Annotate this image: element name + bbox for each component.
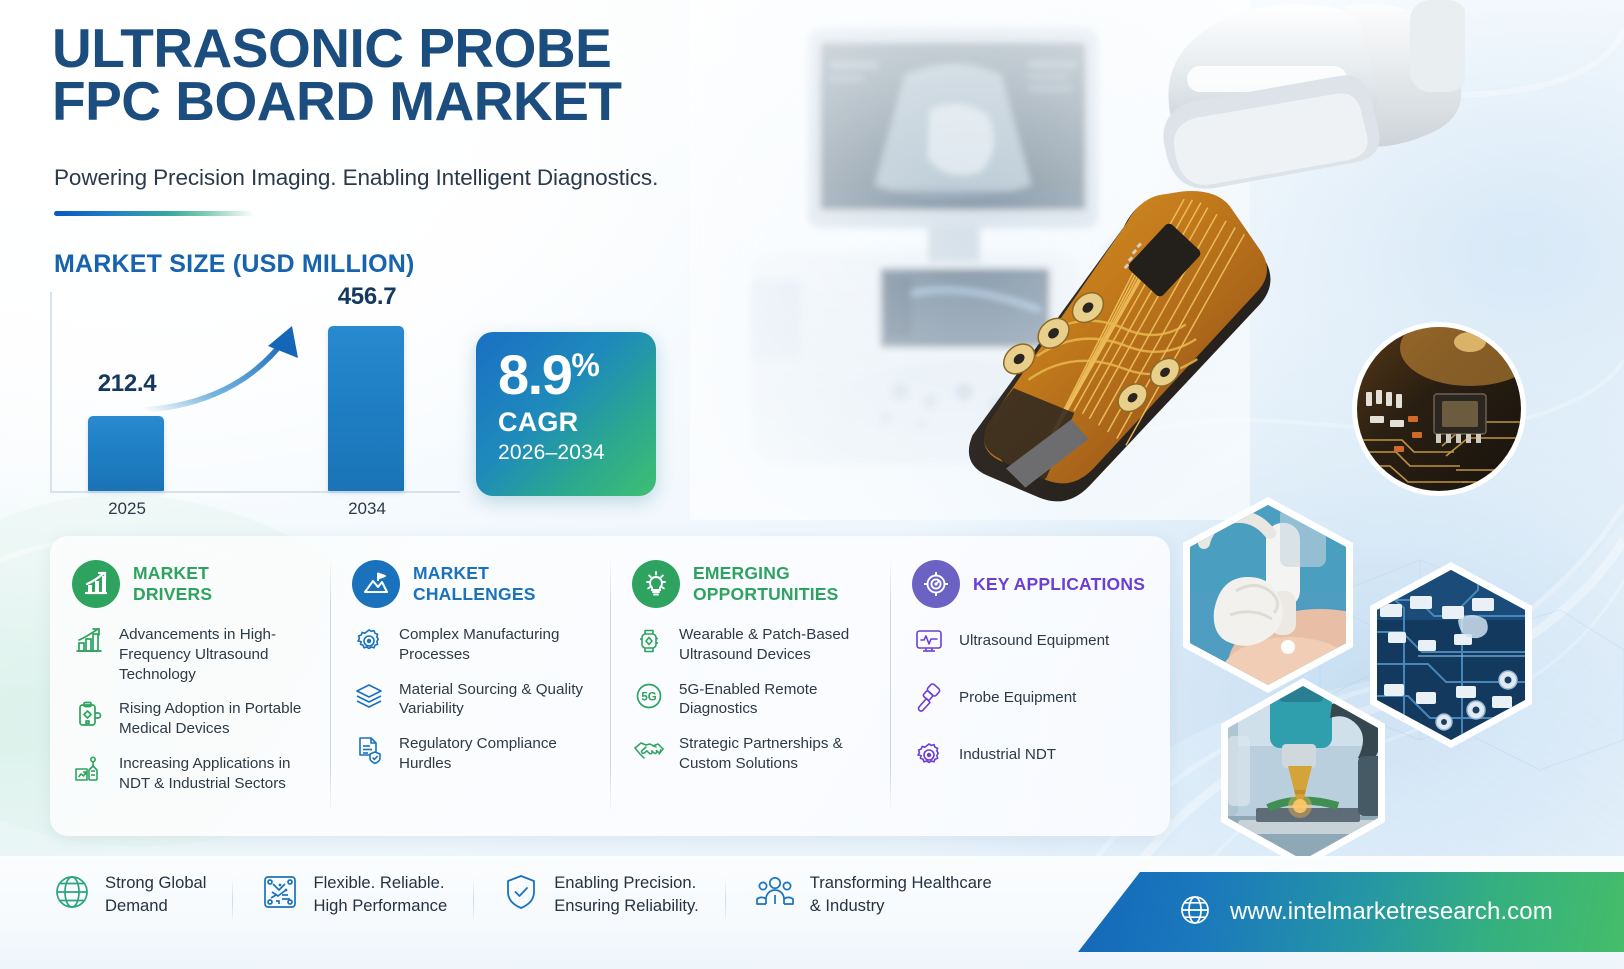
mountain-flag-icon bbox=[352, 560, 400, 608]
list-item: Increasing Applications in NDT & Industr… bbox=[72, 754, 316, 794]
list-item: Ultrasound Equipment bbox=[912, 625, 1156, 656]
bar-2034 bbox=[328, 326, 404, 491]
list-item-label: Regulatory Compliance Hurdles bbox=[399, 734, 596, 774]
growth-chart-icon bbox=[72, 560, 120, 608]
footer-line-1: Strong Global bbox=[105, 872, 206, 894]
footer-line-1: Flexible. Reliable. bbox=[313, 872, 447, 894]
accent-divider bbox=[54, 211, 254, 216]
footer-highlights: Strong Global Demand Flexible. Reliable bbox=[52, 872, 1018, 917]
footer-item-label: Strong Global Demand bbox=[105, 872, 206, 917]
shield-check-icon bbox=[501, 872, 541, 917]
footer-line-2: Demand bbox=[105, 895, 206, 917]
gear-icon bbox=[352, 625, 386, 656]
infographic-canvas: ULTRASONIC PROBE FPC BOARD MARKET Poweri… bbox=[0, 0, 1624, 969]
column-key-applications: KEY APPLICATIONS Ultrasound Equipment bbox=[890, 536, 1170, 836]
column-header: KEY APPLICATIONS bbox=[912, 560, 1156, 608]
heading-line-1: MARKET bbox=[413, 563, 536, 584]
list-item: Strategic Partnerships & Custom Solution… bbox=[632, 734, 876, 774]
list-item: Probe Equipment bbox=[912, 682, 1156, 713]
footer-item-label: Flexible. Reliable. High Performance bbox=[313, 872, 447, 917]
footer-line-1: Transforming Healthcare bbox=[810, 872, 992, 894]
fpc-flex-circuit-photo bbox=[908, 169, 1371, 541]
column-items: Advancements in High-Frequency Ultrasoun… bbox=[72, 625, 316, 793]
growth-chart-icon bbox=[72, 625, 106, 656]
column-header: MARKET CHALLENGES bbox=[352, 560, 596, 608]
bar-label-2025: 2025 bbox=[82, 499, 172, 519]
bar-value-2034: 456.7 bbox=[322, 283, 412, 311]
monitor-pulse-icon bbox=[912, 625, 946, 656]
footer-item-transforming-healthcare: Transforming Healthcare & Industry bbox=[725, 872, 1018, 917]
5g-icon: 5G bbox=[632, 680, 666, 711]
column-items: Ultrasound Equipment Probe Equipment bbox=[912, 625, 1156, 770]
list-item-label: Increasing Applications in NDT & Industr… bbox=[119, 754, 316, 794]
list-item: Complex Manufacturing Processes bbox=[352, 625, 596, 665]
globe-icon bbox=[52, 872, 92, 917]
handshake-icon bbox=[632, 734, 666, 765]
list-item-label: Advancements in High-Frequency Ultrasoun… bbox=[119, 625, 316, 684]
bar-value-2025: 212.4 bbox=[82, 370, 172, 398]
footer-item-flexible-reliable: Flexible. Reliable. High Performance bbox=[232, 872, 473, 917]
bar-label-2034: 2034 bbox=[322, 499, 412, 519]
column-heading-text: EMERGING OPPORTUNITIES bbox=[693, 563, 839, 604]
ultrasound-scan-patient-photo bbox=[1170, 495, 1366, 695]
column-market-drivers: MARKET DRIVERS Advancements in High-Freq… bbox=[50, 536, 330, 836]
heading-line-1: EMERGING bbox=[693, 563, 839, 584]
heading-line-1: KEY APPLICATIONS bbox=[973, 574, 1145, 595]
footer-line-1: Enabling Precision. bbox=[554, 872, 699, 894]
footer-item-label: Enabling Precision. Ensuring Reliability… bbox=[554, 872, 699, 917]
column-heading-text: MARKET CHALLENGES bbox=[413, 563, 536, 604]
website-url: www.intelmarketresearch.com bbox=[1230, 898, 1553, 926]
list-item-label: Rising Adoption in Portable Medical Devi… bbox=[119, 699, 316, 739]
page-title: ULTRASONIC PROBE FPC BOARD MARKET bbox=[52, 22, 772, 129]
footer-line-2: & Industry bbox=[810, 895, 992, 917]
list-item-label: Material Sourcing & Quality Variability bbox=[399, 680, 596, 720]
list-item-label: Complex Manufacturing Processes bbox=[399, 625, 596, 665]
footer-item-strong-global-demand: Strong Global Demand bbox=[52, 872, 232, 917]
portable-device-icon bbox=[72, 699, 106, 730]
list-item-label: Wearable & Patch-Based Ultrasound Device… bbox=[679, 625, 876, 665]
list-item: Regulatory Compliance Hurdles bbox=[352, 734, 596, 774]
probe-icon bbox=[912, 682, 946, 713]
footer-item-label: Transforming Healthcare & Industry bbox=[810, 872, 992, 917]
cagr-value: 8.9% bbox=[498, 348, 656, 401]
list-item: Wearable & Patch-Based Ultrasound Device… bbox=[632, 625, 876, 665]
column-heading-text: KEY APPLICATIONS bbox=[973, 574, 1145, 595]
cagr-percent-symbol: % bbox=[571, 347, 598, 383]
column-heading-text: MARKET DRIVERS bbox=[133, 563, 212, 604]
website-banner[interactable]: www.intelmarketresearch.com bbox=[1078, 872, 1624, 952]
list-item: Advancements in High-Frequency Ultrasoun… bbox=[72, 625, 316, 684]
cagr-period: 2026–2034 bbox=[498, 441, 656, 465]
heading-line-2: DRIVERS bbox=[133, 584, 212, 605]
column-items: Complex Manufacturing Processes Material… bbox=[352, 625, 596, 774]
column-header: MARKET DRIVERS bbox=[72, 560, 316, 608]
target-icon bbox=[912, 560, 960, 608]
footer-item-enabling-precision: Enabling Precision. Ensuring Reliability… bbox=[473, 872, 725, 917]
column-header: EMERGING OPPORTUNITIES bbox=[632, 560, 876, 608]
title-line-2: FPC BOARD MARKET bbox=[52, 75, 772, 128]
list-item: Rising Adoption in Portable Medical Devi… bbox=[72, 699, 316, 739]
pcb-assembly-robot-photo bbox=[1208, 676, 1398, 870]
industrial-ndt-icon bbox=[72, 754, 106, 785]
subtitle: Powering Precision Imaging. Enabling Int… bbox=[54, 165, 814, 191]
smartwatch-icon bbox=[632, 625, 666, 656]
chart-title: MARKET SIZE (USD MILLION) bbox=[54, 250, 415, 279]
svg-text:5G: 5G bbox=[641, 691, 656, 703]
gear-icon bbox=[912, 739, 946, 770]
heading-line-2: CHALLENGES bbox=[413, 584, 536, 605]
list-item: Industrial NDT bbox=[912, 739, 1156, 770]
bar-2025 bbox=[88, 416, 164, 491]
market-size-bar-chart: 212.4 456.7 2025 2034 bbox=[50, 292, 460, 522]
cagr-number: 8.9 bbox=[498, 343, 571, 406]
chart-x-axis bbox=[50, 491, 460, 493]
chart-y-axis bbox=[50, 292, 52, 492]
circuit-icon bbox=[260, 872, 300, 917]
list-item-label: Ultrasound Equipment bbox=[959, 631, 1109, 651]
list-item-label: Industrial NDT bbox=[959, 745, 1056, 765]
list-item-label: Strategic Partnerships & Custom Solution… bbox=[679, 734, 876, 774]
list-item: Material Sourcing & Quality Variability bbox=[352, 680, 596, 720]
pcb-chip-closeup-photo bbox=[1350, 320, 1528, 498]
column-items: Wearable & Patch-Based Ultrasound Device… bbox=[632, 625, 876, 774]
globe-icon bbox=[1178, 893, 1212, 932]
heading-line-2: OPPORTUNITIES bbox=[693, 584, 839, 605]
list-item: 5G 5G-Enabled Remote Diagnostics bbox=[632, 680, 876, 720]
list-item-label: Probe Equipment bbox=[959, 688, 1076, 708]
cagr-badge: 8.9% CAGR 2026–2034 bbox=[476, 332, 656, 496]
footer-line-2: High Performance bbox=[313, 895, 447, 917]
document-shield-icon bbox=[352, 734, 386, 765]
column-emerging-opportunities: EMERGING OPPORTUNITIES Wearable & Patch- bbox=[610, 536, 890, 836]
people-icon bbox=[753, 872, 797, 917]
column-market-challenges: MARKET CHALLENGES Complex Manufacturing … bbox=[330, 536, 610, 836]
footer-line-2: Ensuring Reliability. bbox=[554, 895, 699, 917]
cagr-label: CAGR bbox=[498, 407, 656, 438]
lightbulb-icon bbox=[632, 560, 680, 608]
heading-line-1: MARKET bbox=[133, 563, 212, 584]
layers-icon bbox=[352, 680, 386, 711]
list-item-label: 5G-Enabled Remote Diagnostics bbox=[679, 680, 876, 720]
insights-card: MARKET DRIVERS Advancements in High-Freq… bbox=[50, 536, 1170, 836]
